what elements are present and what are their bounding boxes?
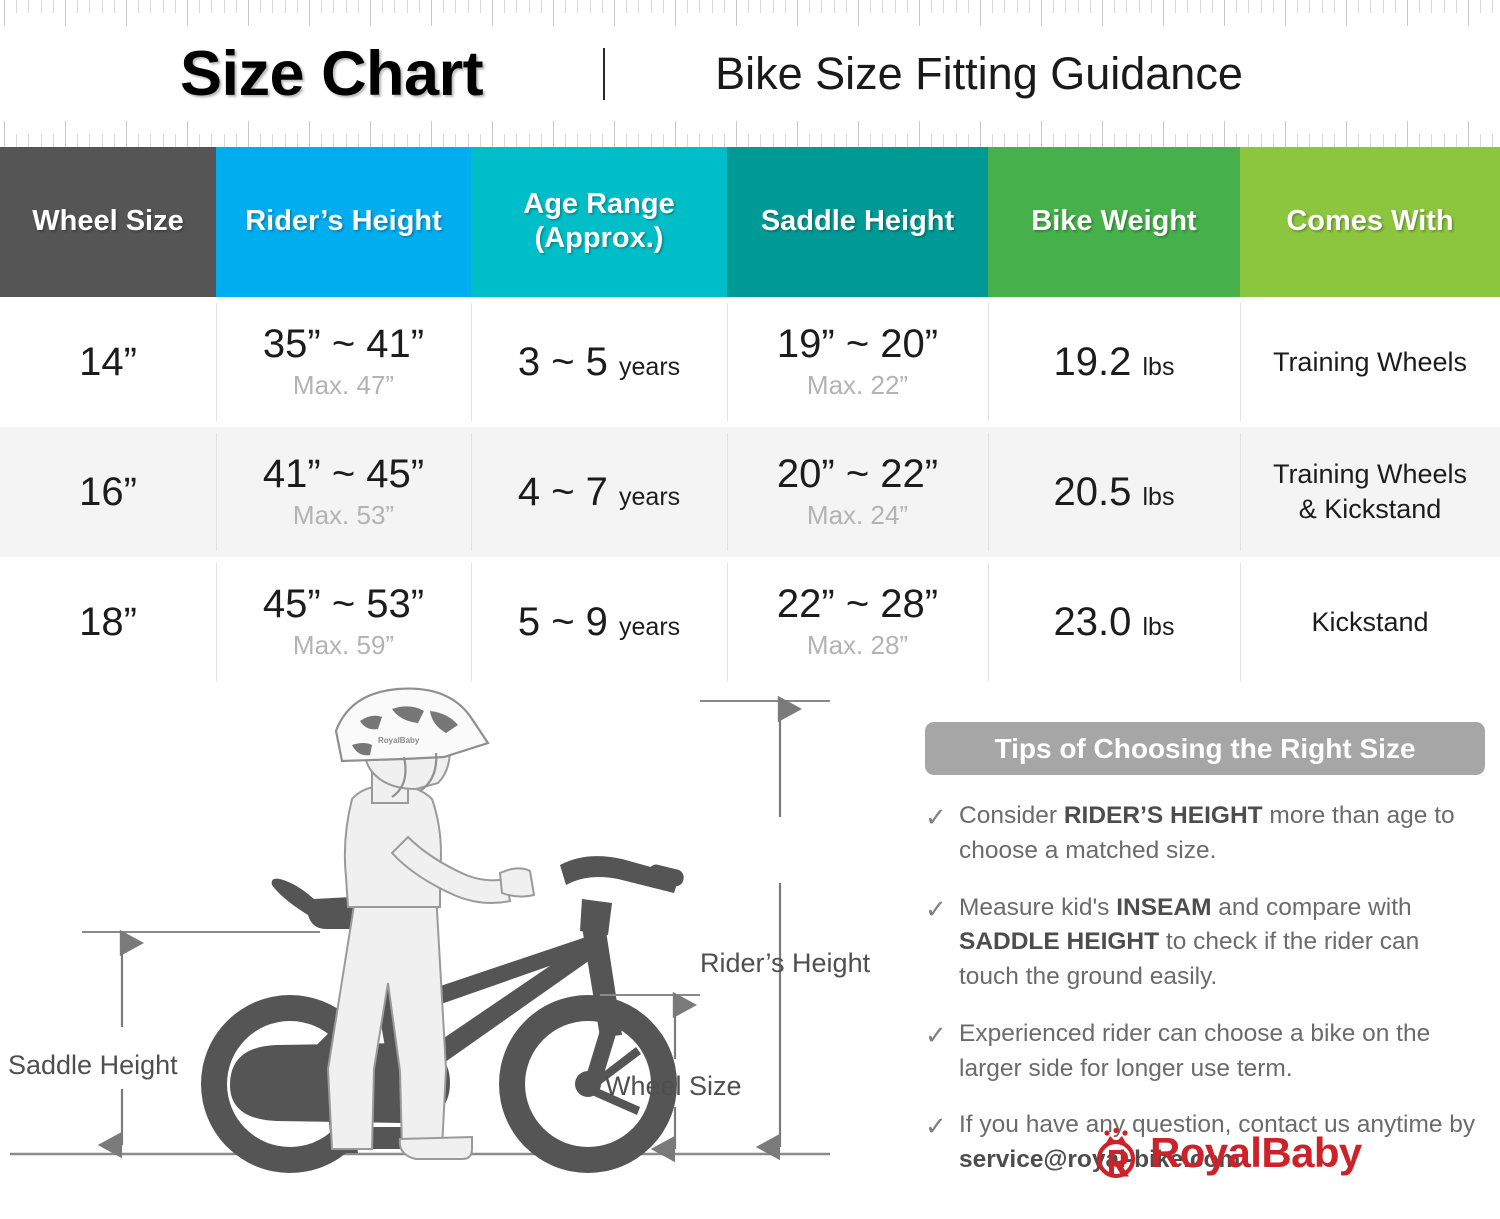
cell-saddle-height: 19” ~ 20” Max. 22” bbox=[727, 297, 988, 427]
ruler-tick bbox=[724, 0, 725, 13]
ruler-tick bbox=[760, 134, 761, 147]
ruler-tick bbox=[41, 0, 42, 13]
ruler-tick bbox=[602, 134, 603, 147]
helmet-brand-label: RoyalBaby bbox=[378, 736, 420, 745]
ruler-tick bbox=[126, 0, 127, 26]
ruler-tick bbox=[1346, 121, 1347, 147]
ruler-tick bbox=[651, 0, 652, 13]
ruler-tick bbox=[382, 134, 383, 147]
ruler-tick bbox=[565, 134, 566, 147]
ruler-tick bbox=[760, 0, 761, 13]
ruler-tick bbox=[809, 134, 810, 147]
lower-section: RoyalBaby Saddle Height Wheel Size Rider… bbox=[0, 687, 1500, 1214]
cell-bike-weight: 23.0 lbs bbox=[988, 557, 1240, 687]
ruler-tick bbox=[333, 134, 334, 147]
table-row: 18” 45” ~ 53” Max. 59” 5 ~ 9 years 22” ~… bbox=[0, 557, 1500, 687]
ruler-tick bbox=[651, 134, 652, 147]
ruler-tick bbox=[1187, 134, 1188, 147]
ruler-tick bbox=[736, 0, 737, 26]
ruler-tick bbox=[346, 134, 347, 147]
ruler-tick bbox=[553, 121, 554, 147]
ruler-tick bbox=[1419, 0, 1420, 13]
ruler-tick bbox=[272, 134, 273, 147]
ruler-tick bbox=[663, 134, 664, 147]
ruler-tick bbox=[102, 134, 103, 147]
ruler-tick bbox=[1395, 134, 1396, 147]
ruler-tick bbox=[1200, 0, 1201, 13]
ruler-tick bbox=[1383, 134, 1384, 147]
ruler-tick bbox=[1431, 134, 1432, 147]
column-header-age-range: Age Range (Approx.) bbox=[471, 147, 727, 297]
ruler-tick bbox=[224, 134, 225, 147]
ruler-tick bbox=[834, 0, 835, 13]
ruler-tick bbox=[638, 134, 639, 147]
ruler-tick bbox=[1383, 0, 1384, 13]
ruler-tick bbox=[407, 0, 408, 13]
cell-comes-with: Kickstand bbox=[1240, 557, 1500, 687]
table-row: 14” 35” ~ 41” Max. 47” 3 ~ 5 years 19” ~… bbox=[0, 297, 1500, 427]
riders-height-label: Rider’s Height bbox=[700, 948, 871, 978]
ruler-tick bbox=[1041, 0, 1042, 26]
tip-text: Consider RIDER’S HEIGHT more than age to… bbox=[959, 799, 1485, 869]
ruler-tick bbox=[931, 0, 932, 13]
ruler-tick bbox=[1346, 0, 1347, 26]
page-header: Size Chart Bike Size Fitting Guidance bbox=[0, 0, 1500, 147]
ruler-tick bbox=[370, 0, 371, 26]
bike-fitting-illustration: RoyalBaby Saddle Height Wheel Size Rider… bbox=[0, 687, 900, 1214]
ruler-tick bbox=[590, 134, 591, 147]
ruler-tick bbox=[455, 134, 456, 147]
cell-riders-height: 41” ~ 45” Max. 53” bbox=[216, 427, 471, 557]
ruler-tick bbox=[1285, 0, 1286, 26]
ruler-tick bbox=[919, 0, 920, 26]
ruler-tick bbox=[455, 0, 456, 13]
ruler-tick bbox=[1114, 134, 1115, 147]
ruler-tick bbox=[1163, 0, 1164, 26]
ruler-tick bbox=[541, 0, 542, 13]
ruler-tick bbox=[1297, 0, 1298, 13]
ruler-ticks-bottom bbox=[0, 121, 1500, 147]
column-header-comes-with: Comes With bbox=[1240, 147, 1500, 297]
ruler-tick bbox=[1248, 134, 1249, 147]
ruler-tick bbox=[285, 0, 286, 13]
cell-riders-height: 45” ~ 53” Max. 59” bbox=[216, 557, 471, 687]
ruler-tick bbox=[297, 134, 298, 147]
ruler-tick bbox=[407, 134, 408, 147]
ruler-tick bbox=[480, 0, 481, 13]
ruler-tick bbox=[577, 0, 578, 13]
ruler-tick bbox=[1236, 134, 1237, 147]
ruler-tick bbox=[614, 0, 615, 26]
ruler-tick bbox=[1090, 134, 1091, 147]
ruler-tick bbox=[1004, 134, 1005, 147]
ruler-tick bbox=[1200, 134, 1201, 147]
ruler-tick bbox=[358, 0, 359, 13]
ruler-tick bbox=[431, 121, 432, 147]
ruler-tick bbox=[1102, 121, 1103, 147]
ruler-tick bbox=[577, 134, 578, 147]
ruler-tick bbox=[895, 134, 896, 147]
ruler-tick bbox=[1029, 0, 1030, 13]
ruler-tick bbox=[821, 0, 822, 13]
ruler-tick bbox=[712, 0, 713, 13]
ruler-tick bbox=[138, 0, 139, 13]
cell-wheel-size: 14” bbox=[0, 297, 216, 427]
tip-text: Measure kid's INSEAM and compare with SA… bbox=[959, 891, 1485, 995]
ruler-tick bbox=[748, 134, 749, 147]
ruler-tick bbox=[16, 0, 17, 13]
ruler-tick bbox=[602, 0, 603, 13]
ruler-tick bbox=[1444, 0, 1445, 13]
ruler-tick bbox=[1407, 121, 1408, 147]
ruler-tick bbox=[480, 134, 481, 147]
ruler-tick bbox=[858, 121, 859, 147]
ruler-tick bbox=[1126, 0, 1127, 13]
ruler-tick bbox=[199, 0, 200, 13]
ruler-tick bbox=[309, 121, 310, 147]
ruler-tick bbox=[419, 0, 420, 13]
ruler-tick bbox=[16, 134, 17, 147]
ruler-tick bbox=[175, 134, 176, 147]
ruler-tick bbox=[992, 0, 993, 13]
ruler-tick bbox=[858, 0, 859, 26]
ruler-tick bbox=[346, 0, 347, 13]
check-icon: ✓ bbox=[925, 799, 959, 836]
ruler-tick bbox=[614, 121, 615, 147]
ruler-tick bbox=[834, 134, 835, 147]
ruler-tick bbox=[1309, 134, 1310, 147]
ruler-tick bbox=[272, 0, 273, 13]
ruler-tick bbox=[1261, 134, 1262, 147]
cell-saddle-height: 20” ~ 22” Max. 24” bbox=[727, 427, 988, 557]
ruler-tick bbox=[870, 134, 871, 147]
ruler-tick bbox=[138, 134, 139, 147]
ruler-tick bbox=[1053, 134, 1054, 147]
ruler-tick bbox=[1004, 0, 1005, 13]
cell-age-range: 4 ~ 7 years bbox=[471, 427, 727, 557]
ruler-tick bbox=[846, 134, 847, 147]
ruler-tick bbox=[211, 134, 212, 147]
cell-comes-with: Training Wheels & Kickstand bbox=[1240, 427, 1500, 557]
ruler-tick bbox=[529, 0, 530, 13]
ruler-tick bbox=[980, 0, 981, 26]
ruler-tick bbox=[370, 121, 371, 147]
ruler-tick bbox=[468, 134, 469, 147]
ruler-tick bbox=[821, 134, 822, 147]
ruler-tick bbox=[1041, 121, 1042, 147]
ruler-tick bbox=[773, 134, 774, 147]
ruler-tick bbox=[1065, 0, 1066, 13]
ruler-tick bbox=[126, 121, 127, 147]
ruler-tick bbox=[663, 0, 664, 13]
cell-age-range: 5 ~ 9 years bbox=[471, 557, 727, 687]
tips-list: ✓ Consider RIDER’S HEIGHT more than age … bbox=[925, 799, 1485, 1178]
ruler-tick bbox=[431, 0, 432, 26]
ruler-tick bbox=[1480, 0, 1481, 13]
ruler-tick bbox=[114, 134, 115, 147]
ruler-tick bbox=[1261, 0, 1262, 13]
ruler-tick bbox=[175, 0, 176, 13]
ruler-tick bbox=[1395, 0, 1396, 13]
ruler-tick bbox=[541, 134, 542, 147]
ruler-tick bbox=[797, 0, 798, 26]
ruler-tick bbox=[1370, 134, 1371, 147]
ruler-tick bbox=[236, 134, 237, 147]
ruler-tick bbox=[468, 0, 469, 13]
ruler-tick bbox=[956, 0, 957, 13]
ruler-tick bbox=[492, 0, 493, 26]
ruler-tick bbox=[1017, 0, 1018, 13]
ruler-tick bbox=[443, 0, 444, 13]
check-icon: ✓ bbox=[925, 891, 959, 928]
ruler-tick bbox=[1334, 0, 1335, 13]
page-title: Size Chart bbox=[180, 38, 483, 110]
ruler-tick bbox=[1358, 134, 1359, 147]
ruler-tick bbox=[224, 0, 225, 13]
ruler-tick bbox=[1017, 134, 1018, 147]
ruler-tick bbox=[394, 134, 395, 147]
ruler-tick bbox=[504, 134, 505, 147]
ruler-tick bbox=[1419, 134, 1420, 147]
ruler-tick bbox=[1273, 134, 1274, 147]
ruler-tick bbox=[1187, 0, 1188, 13]
ruler-tick bbox=[736, 121, 737, 147]
wheel-size-label: Wheel Size bbox=[605, 1071, 742, 1101]
ruler-tick bbox=[1114, 0, 1115, 13]
ruler-tick bbox=[163, 134, 164, 147]
ruler-tick bbox=[199, 134, 200, 147]
ruler-tick bbox=[590, 0, 591, 13]
ruler-tick bbox=[943, 0, 944, 13]
ruler-tick bbox=[699, 0, 700, 13]
ruler-tick bbox=[870, 0, 871, 13]
ruler-tick bbox=[321, 0, 322, 13]
cell-wheel-size: 16” bbox=[0, 427, 216, 557]
ruler-tick bbox=[992, 134, 993, 147]
column-header-saddle-height: Saddle Height bbox=[727, 147, 988, 297]
ruler-tick bbox=[1212, 0, 1213, 13]
ruler-tick bbox=[285, 134, 286, 147]
ruler-tick bbox=[333, 0, 334, 13]
ruler-tick bbox=[785, 0, 786, 13]
ruler-tick bbox=[187, 121, 188, 147]
cell-bike-weight: 20.5 lbs bbox=[988, 427, 1240, 557]
ruler-tick bbox=[1224, 121, 1225, 147]
ruler-tick bbox=[419, 134, 420, 147]
ruler-tick bbox=[907, 0, 908, 13]
ruler-tick bbox=[1090, 0, 1091, 13]
ruler-tick bbox=[626, 134, 627, 147]
ruler-tick bbox=[114, 0, 115, 13]
ruler-tick bbox=[882, 134, 883, 147]
ruler-tick bbox=[773, 0, 774, 13]
ruler-tick bbox=[1065, 134, 1066, 147]
ruler-tick bbox=[321, 134, 322, 147]
ruler-tick bbox=[1322, 134, 1323, 147]
ruler-tick bbox=[1078, 0, 1079, 13]
cell-age-range: 3 ~ 5 years bbox=[471, 297, 727, 427]
ruler-tick bbox=[1175, 0, 1176, 13]
check-icon: ✓ bbox=[925, 1108, 959, 1145]
ruler-tick bbox=[382, 0, 383, 13]
ruler-tick bbox=[1163, 121, 1164, 147]
ruler-tick bbox=[41, 134, 42, 147]
ruler-tick bbox=[1456, 134, 1457, 147]
ruler-tick bbox=[846, 0, 847, 13]
ruler-tick bbox=[1309, 0, 1310, 13]
ruler-tick bbox=[907, 134, 908, 147]
ruler-tick bbox=[1444, 134, 1445, 147]
table-header-row: Wheel Size Rider’s Height Age Range (App… bbox=[0, 147, 1500, 297]
ruler-tick bbox=[1151, 0, 1152, 13]
ruler-tick bbox=[443, 134, 444, 147]
ruler-tick bbox=[1273, 0, 1274, 13]
cell-riders-height: 35” ~ 41” Max. 47” bbox=[216, 297, 471, 427]
ruler-tick bbox=[150, 0, 151, 13]
column-header-riders-height: Rider’s Height bbox=[216, 147, 471, 297]
ruler-tick bbox=[163, 0, 164, 13]
table-row: 16” 41” ~ 45” Max. 53” 4 ~ 7 years 20” ~… bbox=[0, 427, 1500, 557]
ruler-tick bbox=[1285, 121, 1286, 147]
ruler-tick bbox=[1053, 0, 1054, 13]
cell-bike-weight: 19.2 lbs bbox=[988, 297, 1240, 427]
ruler-ticks-top bbox=[0, 0, 1500, 26]
ruler-tick bbox=[1175, 134, 1176, 147]
ruler-tick bbox=[53, 134, 54, 147]
page-subtitle: Bike Size Fitting Guidance bbox=[715, 48, 1243, 100]
tip-item: ✓ Measure kid's INSEAM and compare with … bbox=[925, 891, 1485, 995]
ruler-tick bbox=[553, 0, 554, 26]
ruler-tick bbox=[187, 0, 188, 26]
ruler-tick bbox=[53, 0, 54, 13]
ruler-tick bbox=[1468, 121, 1469, 147]
ruler-tick bbox=[919, 121, 920, 147]
ruler-tick bbox=[1126, 134, 1127, 147]
column-header-bike-weight: Bike Weight bbox=[988, 147, 1240, 297]
ruler-tick bbox=[394, 0, 395, 13]
cell-saddle-height: 22” ~ 28” Max. 28” bbox=[727, 557, 988, 687]
ruler-tick bbox=[1322, 0, 1323, 13]
header-title-row: Size Chart Bike Size Fitting Guidance bbox=[0, 26, 1500, 121]
ruler-tick bbox=[1456, 0, 1457, 13]
tips-banner: Tips of Choosing the Right Size bbox=[925, 722, 1485, 775]
ruler-tick bbox=[77, 0, 78, 13]
ruler-tick bbox=[1297, 134, 1298, 147]
ruler-tick bbox=[1236, 0, 1237, 13]
title-divider bbox=[603, 48, 605, 100]
ruler-tick bbox=[89, 134, 90, 147]
ruler-tick bbox=[492, 121, 493, 147]
ruler-tick bbox=[150, 134, 151, 147]
ruler-tick bbox=[638, 0, 639, 13]
ruler-tick bbox=[65, 0, 66, 26]
tip-item: ✓ Consider RIDER’S HEIGHT more than age … bbox=[925, 799, 1485, 869]
ruler-tick bbox=[748, 0, 749, 13]
ruler-tick bbox=[28, 0, 29, 13]
ruler-tick bbox=[980, 121, 981, 147]
size-chart-table: Wheel Size Rider’s Height Age Range (App… bbox=[0, 147, 1500, 687]
ruler-tick bbox=[1151, 134, 1152, 147]
ruler-tick bbox=[1212, 134, 1213, 147]
ruler-tick bbox=[565, 0, 566, 13]
ruler-tick bbox=[297, 0, 298, 13]
ruler-tick bbox=[529, 134, 530, 147]
saddle-height-label: Saddle Height bbox=[8, 1050, 178, 1080]
ruler-tick bbox=[712, 134, 713, 147]
ruler-tick bbox=[1029, 134, 1030, 147]
ruler-tick bbox=[1480, 134, 1481, 147]
ruler-tick bbox=[785, 134, 786, 147]
ruler-tick bbox=[1139, 134, 1140, 147]
ruler-tick bbox=[1431, 0, 1432, 13]
ruler-tick bbox=[4, 121, 5, 147]
ruler-tick bbox=[260, 0, 261, 13]
ruler-tick bbox=[28, 134, 29, 147]
ruler-tick bbox=[1334, 134, 1335, 147]
ruler-tick bbox=[895, 0, 896, 13]
tips-banner-label: Tips of Choosing the Right Size bbox=[994, 733, 1415, 765]
ruler-tick bbox=[1248, 0, 1249, 13]
royalbaby-logo: RoyalBaby bbox=[1090, 1127, 1362, 1179]
ruler-tick bbox=[1358, 0, 1359, 13]
ruler-tick bbox=[968, 134, 969, 147]
ruler-tick bbox=[797, 121, 798, 147]
ruler-tick bbox=[102, 0, 103, 13]
ruler-tick bbox=[309, 0, 310, 26]
ruler-tick bbox=[77, 134, 78, 147]
ruler-tick bbox=[1102, 0, 1103, 26]
royalbaby-wordmark: RoyalBaby bbox=[1150, 1129, 1362, 1177]
tip-text: Experienced rider can choose a bike on t… bbox=[959, 1017, 1485, 1087]
ruler-tick bbox=[675, 0, 676, 26]
ruler-tick bbox=[260, 134, 261, 147]
ruler-tick bbox=[89, 0, 90, 13]
ruler-tick bbox=[504, 0, 505, 13]
ruler-tick bbox=[1224, 0, 1225, 26]
ruler-tick bbox=[516, 134, 517, 147]
tip-item: ✓ Experienced rider can choose a bike on… bbox=[925, 1017, 1485, 1087]
cell-comes-with: Training Wheels bbox=[1240, 297, 1500, 427]
ruler-tick bbox=[956, 134, 957, 147]
ruler-tick bbox=[248, 0, 249, 26]
ruler-tick bbox=[1078, 134, 1079, 147]
ruler-tick bbox=[1468, 0, 1469, 26]
ruler-tick bbox=[626, 0, 627, 13]
column-header-wheel-size: Wheel Size bbox=[0, 147, 216, 297]
ruler-tick bbox=[1370, 0, 1371, 13]
ruler-tick bbox=[968, 0, 969, 13]
ruler-tick bbox=[211, 0, 212, 13]
cell-wheel-size: 18” bbox=[0, 557, 216, 687]
ruler-tick bbox=[516, 0, 517, 13]
ruler-tick bbox=[1492, 0, 1493, 13]
ruler-tick bbox=[248, 121, 249, 147]
ruler-tick bbox=[675, 121, 676, 147]
royalbaby-crown-r-icon bbox=[1090, 1127, 1142, 1179]
ruler-tick bbox=[1139, 0, 1140, 13]
check-icon: ✓ bbox=[925, 1017, 959, 1054]
ruler-tick bbox=[687, 134, 688, 147]
ruler-tick bbox=[943, 134, 944, 147]
ruler-tick bbox=[687, 0, 688, 13]
ruler-tick bbox=[236, 0, 237, 13]
ruler-tick bbox=[65, 121, 66, 147]
ruler-tick bbox=[699, 134, 700, 147]
ruler-tick bbox=[4, 0, 5, 26]
ruler-tick bbox=[809, 0, 810, 13]
ruler-tick bbox=[1492, 134, 1493, 147]
ruler-tick bbox=[882, 0, 883, 13]
